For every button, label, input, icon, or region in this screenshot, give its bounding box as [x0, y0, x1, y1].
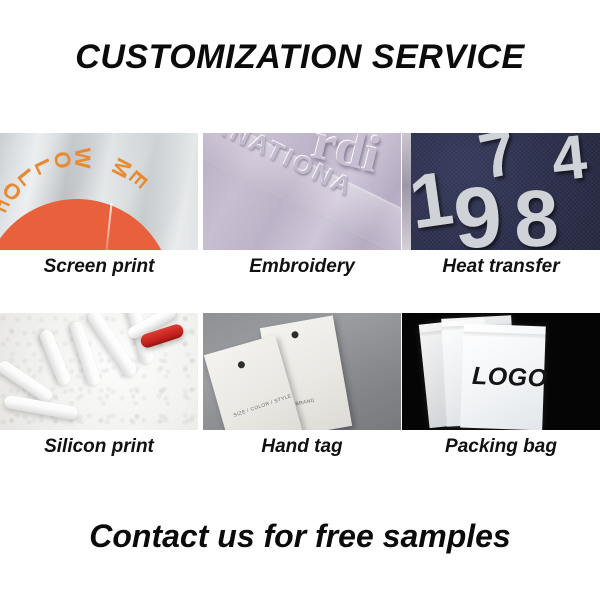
bag-logo-print: LOGO — [471, 362, 548, 394]
tag-punch-hole — [291, 331, 299, 339]
heat-glyph: 8 — [512, 172, 560, 250]
service-card-label: Heat transfer — [402, 256, 600, 278]
service-row-2: Silicon print BRAND SIZE / COLOR / STYLE… — [0, 313, 600, 493]
service-card-hand-tag[interactable]: BRAND SIZE / COLOR / STYLE Hand tag — [203, 313, 401, 458]
silicon-print-photo — [0, 313, 198, 430]
service-grid: N'T FOLLOW ME Screen print rdi ERNATIONA… — [0, 133, 600, 493]
cta-text: Contact us for free samples — [0, 518, 600, 555]
service-card-heat-transfer[interactable]: 7 4 1 9 8 Heat transfer — [402, 133, 600, 278]
arc-letter: W — [69, 147, 95, 168]
embroidery-photo: rdi ERNATIONA — [203, 133, 401, 250]
service-card-label: Silicon print — [0, 436, 198, 458]
service-card-label: Hand tag — [203, 436, 401, 458]
heat-transfer-photo: 7 4 1 9 8 — [402, 133, 600, 250]
arc-text-group: N'T FOLLOW ME — [0, 151, 176, 250]
packing-bag-front: LOGO — [460, 324, 546, 430]
service-card-silicon-print[interactable]: Silicon print — [0, 313, 198, 458]
arc-letter: E — [123, 165, 152, 193]
tag-front-microtext: SIZE / COLOR / STYLE — [233, 393, 293, 419]
tag-back-microtext: BRAND — [295, 398, 315, 408]
page-title: CUSTOMIZATION SERVICE — [0, 38, 600, 77]
packing-bag-photo: LOGO — [402, 313, 600, 430]
service-card-packing-bag[interactable]: LOGO Packing bag — [402, 313, 600, 458]
service-card-label: Packing bag — [402, 436, 600, 458]
service-card-embroidery[interactable]: rdi ERNATIONA Embroidery — [203, 133, 401, 278]
hand-tag-photo: BRAND SIZE / COLOR / STYLE — [203, 313, 401, 430]
heat-glyph: 9 — [451, 167, 506, 250]
service-card-label: Screen print — [0, 256, 198, 278]
tag-punch-hole — [237, 360, 246, 369]
customization-service-banner: CUSTOMIZATION SERVICE N'T FOLLOW ME Scre… — [0, 0, 600, 601]
service-card-label: Embroidery — [203, 256, 401, 278]
screen-print-photo: N'T FOLLOW ME — [0, 133, 198, 250]
zip-seal — [463, 332, 545, 339]
service-card-screen-print[interactable]: N'T FOLLOW ME Screen print — [0, 133, 198, 278]
service-row-1: N'T FOLLOW ME Screen print rdi ERNATIONA… — [0, 133, 600, 313]
